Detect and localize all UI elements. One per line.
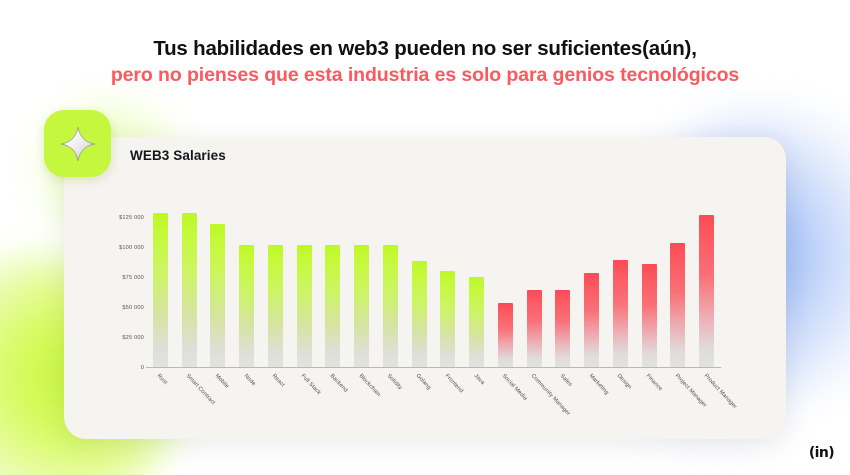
x-label-slot: Rust: [146, 370, 175, 440]
bar-slot: [434, 205, 463, 367]
x-axis-tick-label: Rust: [156, 373, 169, 386]
chart-title: WEB3 Salaries: [130, 148, 226, 163]
y-axis-tick: $25 000: [122, 335, 144, 341]
plot-area: [146, 205, 721, 368]
bar[interactable]: [584, 273, 599, 367]
bar[interactable]: [469, 277, 484, 367]
x-label-slot: Mobile: [204, 370, 233, 440]
x-axis-tick-label: Sales: [558, 373, 572, 388]
bar-slot: [664, 205, 693, 367]
sparkle-icon: [59, 125, 97, 163]
x-label-slot: Design: [606, 370, 635, 440]
x-axis-tick-label: React: [271, 373, 286, 388]
bar[interactable]: [325, 245, 340, 367]
x-axis-tick-label: Backend: [328, 373, 348, 394]
y-axis-tick: $75 000: [122, 275, 144, 281]
x-label-slot: Sales: [549, 370, 578, 440]
bar-slot: [290, 205, 319, 367]
bar-slot: [376, 205, 405, 367]
headline-line-1: Tus habilidades en web3 pueden no ser su…: [50, 36, 800, 63]
x-label-slot: Finance: [635, 370, 664, 440]
x-label-slot: Product Manager: [692, 370, 721, 440]
y-axis-tick: $50 000: [122, 305, 144, 311]
x-label-slot: Frontend: [434, 370, 463, 440]
bar-slot: [520, 205, 549, 367]
bar-slot: [146, 205, 175, 367]
bar[interactable]: [642, 264, 657, 367]
x-label-slot: Backend: [319, 370, 348, 440]
bar[interactable]: [699, 215, 714, 367]
x-label-slot: Social Media: [491, 370, 520, 440]
x-axis-tick-label: Mobile: [213, 373, 229, 390]
x-axis-tick-label: Design: [616, 373, 633, 390]
watermark-logo: (in): [809, 445, 834, 461]
bar-slot: [606, 205, 635, 367]
y-axis-tick: $100 000: [119, 245, 144, 251]
x-axis-labels: RustSmart ContractMobileNodeReactFull St…: [146, 370, 721, 440]
headline: Tus habilidades en web3 pueden no ser su…: [50, 36, 800, 88]
x-label-slot: Node: [232, 370, 261, 440]
bar-slot: [175, 205, 204, 367]
x-label-slot: React: [261, 370, 290, 440]
x-axis-line: [146, 367, 721, 368]
bar[interactable]: [354, 245, 369, 367]
bar[interactable]: [297, 245, 312, 367]
x-label-slot: Community Manager: [520, 370, 549, 440]
bar-slot: [549, 205, 578, 367]
bar[interactable]: [153, 213, 168, 367]
x-label-slot: Smart Contract: [175, 370, 204, 440]
x-label-slot: Java: [462, 370, 491, 440]
bar-slot: [232, 205, 261, 367]
bar[interactable]: [210, 224, 225, 367]
x-axis-tick-label: Finance: [645, 373, 664, 392]
bar[interactable]: [268, 245, 283, 367]
x-axis-tick-label: Frontend: [443, 373, 463, 394]
bar[interactable]: [498, 303, 513, 367]
x-label-slot: Golang: [405, 370, 434, 440]
bar-slot: [204, 205, 233, 367]
y-axis-tick: 0: [141, 365, 144, 371]
x-axis-tick-label: Solidity: [386, 373, 404, 391]
bar-slot: [319, 205, 348, 367]
bar-series: [146, 205, 721, 367]
bar[interactable]: [412, 261, 427, 367]
bar[interactable]: [670, 243, 685, 367]
y-axis: $125 000$100 000$75 000$50 000$25 0000: [100, 205, 144, 368]
bar-slot: [692, 205, 721, 367]
x-label-slot: Solidity: [376, 370, 405, 440]
bar-slot: [261, 205, 290, 367]
x-label-slot: Full Stack: [290, 370, 319, 440]
x-axis-tick-label: Node: [242, 373, 256, 387]
bar[interactable]: [613, 260, 628, 367]
sparkle-badge: [44, 110, 111, 177]
bar-slot: [635, 205, 664, 367]
x-label-slot: Marketing: [577, 370, 606, 440]
bar[interactable]: [555, 290, 570, 367]
bar-slot: [462, 205, 491, 367]
bar[interactable]: [182, 213, 197, 367]
x-label-slot: Blockchain: [347, 370, 376, 440]
bar[interactable]: [440, 271, 455, 367]
y-axis-tick: $125 000: [119, 215, 144, 221]
bar[interactable]: [383, 245, 398, 367]
bar[interactable]: [239, 245, 254, 367]
headline-line-2: pero no pienses que esta industria es so…: [50, 63, 800, 88]
bar[interactable]: [527, 290, 542, 367]
slide-canvas: Tus habilidades en web3 pueden no ser su…: [0, 0, 850, 475]
x-axis-tick-label: Golang: [415, 373, 432, 391]
bar-slot: [405, 205, 434, 367]
bar-slot: [577, 205, 606, 367]
bar-slot: [347, 205, 376, 367]
x-axis-tick-label: Java: [472, 373, 485, 386]
bar-slot: [491, 205, 520, 367]
x-label-slot: Project Manager: [664, 370, 693, 440]
